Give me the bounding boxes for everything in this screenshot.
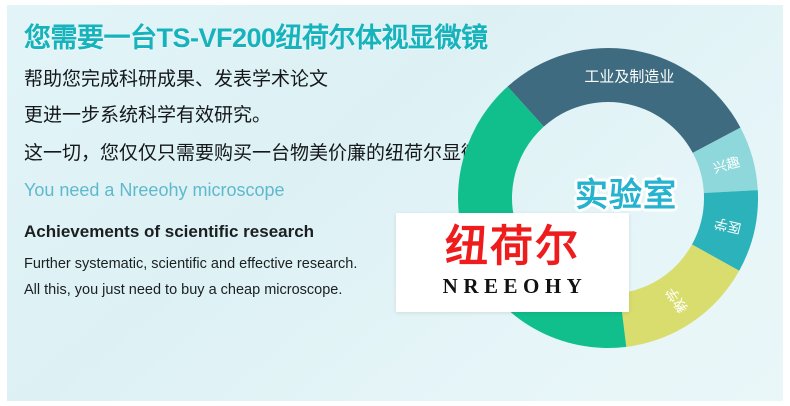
chinese-line-3: 这一切，您仅仅只需要购买一台物美价廉的纽荷尔显微镜。 — [24, 138, 518, 165]
donut-segment-label: 工业及制造业 — [584, 68, 674, 85]
english-line-1: Further systematic, scientific and effec… — [24, 256, 357, 272]
english-subtitle: You need a Nreeohy microscope — [24, 180, 285, 201]
donut-center-label-text: 实验室 — [575, 176, 677, 213]
donut-segment — [508, 48, 741, 153]
promo-banner: 您需要一台TS-VF200纽荷尔体视显微镜 帮助您完成科研成果、发表学术论文 更… — [0, 0, 790, 406]
brand-logo-english: NREEOHY — [438, 274, 588, 299]
chinese-line-2: 更进一步系统科学有效研究。 — [24, 100, 271, 127]
brand-logo: 纽荷尔 NREEOHY — [396, 213, 629, 312]
donut-center-label: 实验室 — [575, 168, 677, 216]
english-heading: Achievements of scientific research — [24, 222, 314, 242]
page-title: 您需要一台TS-VF200纽荷尔体视显微镜 — [24, 16, 488, 55]
english-line-2: All this, you just need to buy a cheap m… — [24, 282, 342, 298]
brand-logo-chinese: 纽荷尔 — [445, 226, 580, 270]
chinese-line-1: 帮助您完成科研成果、发表学术论文 — [24, 64, 328, 91]
